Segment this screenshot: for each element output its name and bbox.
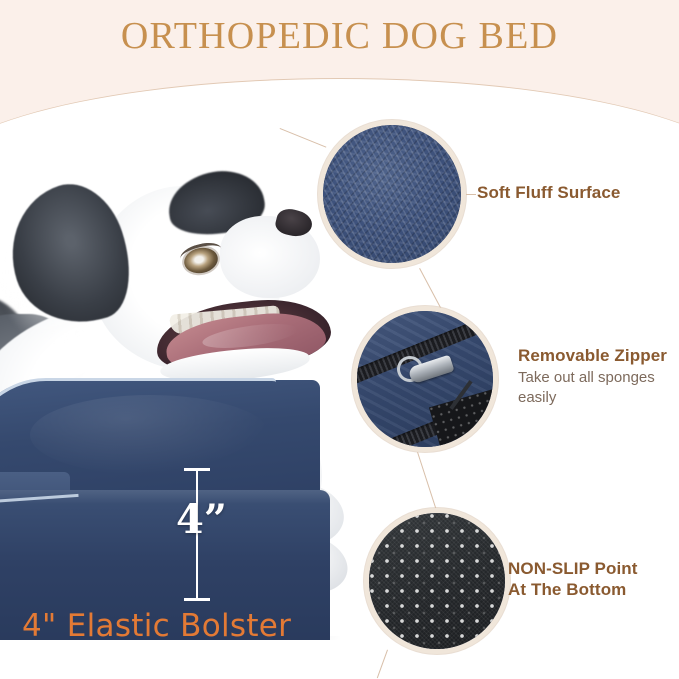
dimension-cap-top bbox=[184, 468, 210, 471]
callout-circle-removable-zipper[interactable] bbox=[352, 306, 498, 452]
callout-circle-non-slip[interactable] bbox=[364, 508, 510, 654]
dimension-value-label: 4” bbox=[176, 500, 227, 540]
callout-sub-removable-zipper: Take out all sponges easily bbox=[518, 368, 679, 407]
infographic-canvas: ORTHOPEDIC DOG BED bbox=[0, 0, 679, 679]
callout-label-non-slip: NON-SLIP Point At The Bottom bbox=[508, 558, 679, 601]
callout-heading-soft-fluff: Soft Fluff Surface bbox=[477, 182, 677, 203]
dimension-cap-bottom bbox=[184, 598, 210, 601]
connector-line-fluff-to-label bbox=[466, 194, 476, 195]
nonslip-dotted-texture-swatch bbox=[369, 513, 505, 649]
callout-label-removable-zipper: Removable Zipper Take out all sponges ea… bbox=[518, 345, 679, 407]
bolster-piping-trim bbox=[0, 378, 276, 508]
callout-circle-soft-fluff[interactable] bbox=[318, 120, 466, 268]
bolster-piping-trim-lower bbox=[0, 494, 81, 545]
fluff-texture-swatch bbox=[323, 125, 461, 263]
bolster-caption: 4" Elastic Bolster bbox=[22, 608, 291, 644]
callout-heading-non-slip-line2: At The Bottom bbox=[508, 579, 679, 600]
callout-heading-removable-zipper: Removable Zipper bbox=[518, 345, 679, 366]
callout-label-soft-fluff: Soft Fluff Surface bbox=[477, 182, 677, 203]
page-title: ORTHOPEDIC DOG BED bbox=[0, 14, 679, 58]
callout-heading-non-slip: NON-SLIP Point bbox=[508, 558, 679, 579]
